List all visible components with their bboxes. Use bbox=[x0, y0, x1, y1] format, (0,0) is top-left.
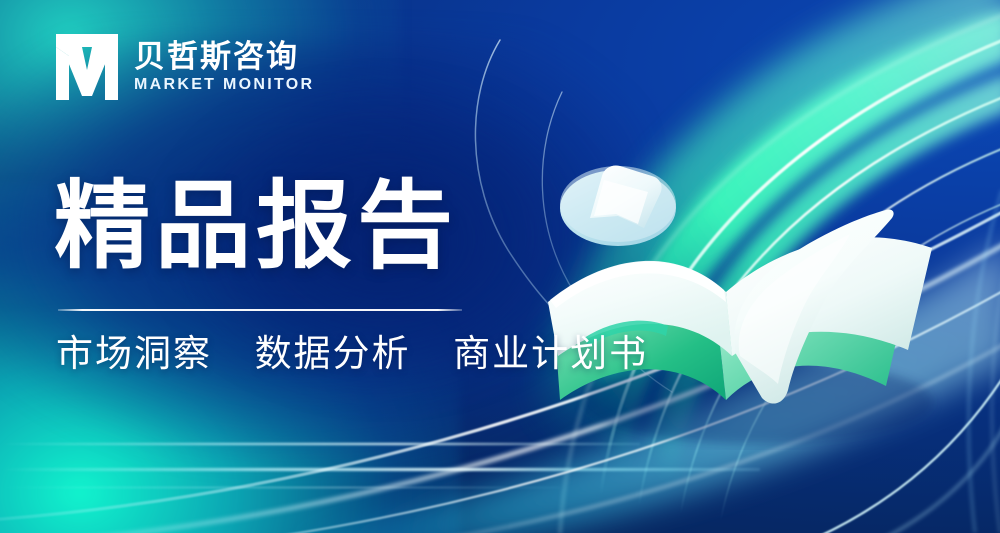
brand-name-en: MARKET MONITOR bbox=[134, 77, 314, 93]
market-monitor-m-mark-icon bbox=[56, 34, 118, 100]
report-banner: 贝哲斯咨询 MARKET MONITOR 精品报告 市场洞察 数据分析 商业计划… bbox=[0, 0, 1000, 533]
brand-logo-text: 贝哲斯咨询 MARKET MONITOR bbox=[134, 41, 314, 93]
subtitle-part-1: 市场洞察 bbox=[56, 331, 212, 377]
subtitle-part-2: 数据分析 bbox=[255, 331, 411, 377]
subtitle-part-3: 商业计划书 bbox=[453, 331, 648, 377]
brand-name-cn: 贝哲斯咨询 bbox=[134, 41, 314, 72]
title-divider bbox=[58, 309, 462, 311]
page-title: 精品报告 bbox=[54, 176, 458, 278]
brand-logo[interactable]: 贝哲斯咨询 MARKET MONITOR bbox=[56, 34, 314, 100]
page-subtitle: 市场洞察 数据分析 商业计划书 bbox=[56, 331, 648, 377]
open-book-illustration bbox=[540, 150, 970, 450]
